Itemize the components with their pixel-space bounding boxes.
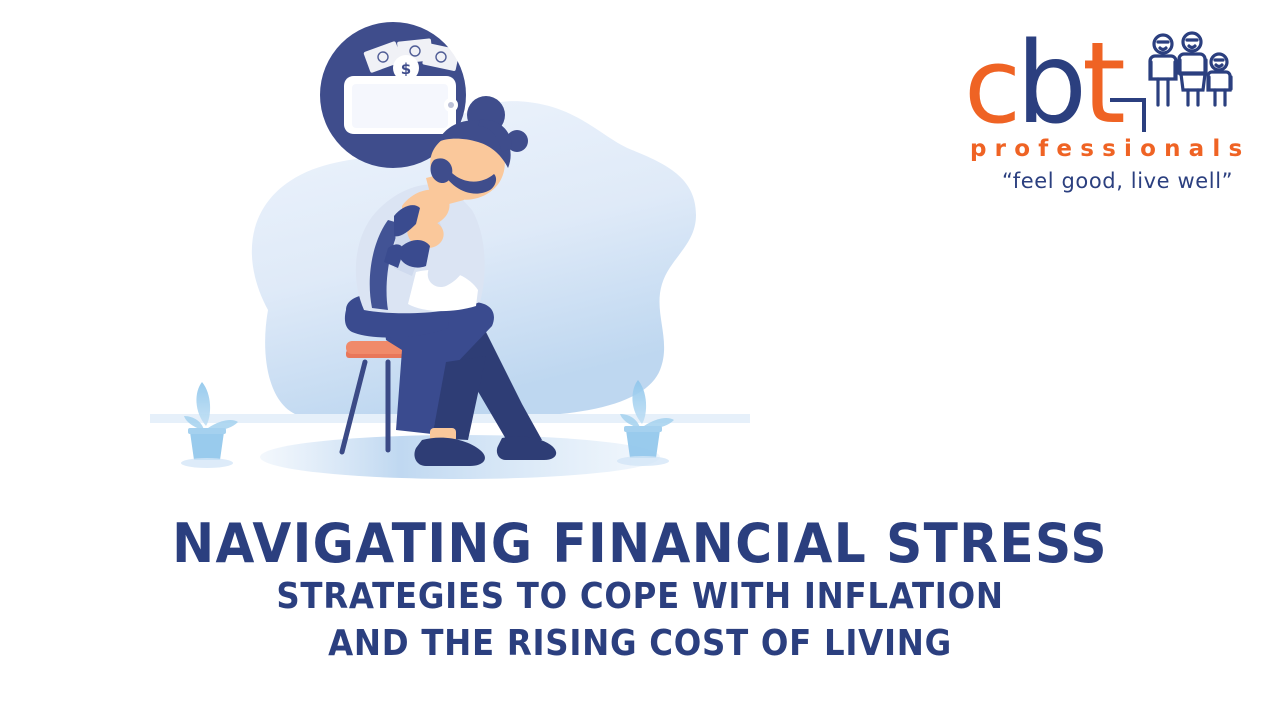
logo-letter-b: b [1016, 22, 1087, 149]
financial-stress-illustration: $ [150, 10, 750, 500]
logo-letter-t: t [1082, 22, 1126, 149]
subtitle-line-1: STRATEGIES TO COPE WITH INFLATION [64, 573, 1216, 620]
illustration-svg: $ [150, 10, 750, 500]
logo-word-professionals: professionals [970, 136, 1250, 162]
cbt-professionals-logo[interactable]: c b t [960, 22, 1260, 197]
poster-canvas: $ [0, 0, 1280, 720]
potted-plant-left [181, 382, 238, 468]
subtitle-line-2: AND THE RISING COST OF LIVING [64, 620, 1216, 667]
svg-text:$: $ [401, 60, 411, 78]
family-group-icon [1150, 33, 1231, 105]
logo-letter-c: c [964, 25, 1021, 147]
page-title: NAVIGATING FINANCIAL STRESS [45, 515, 1235, 573]
logo-tagline: “feel good, live well” [1002, 169, 1233, 193]
logo-svg: c b t [960, 22, 1260, 197]
headline-block: NAVIGATING FINANCIAL STRESS STRATEGIES T… [0, 515, 1280, 667]
